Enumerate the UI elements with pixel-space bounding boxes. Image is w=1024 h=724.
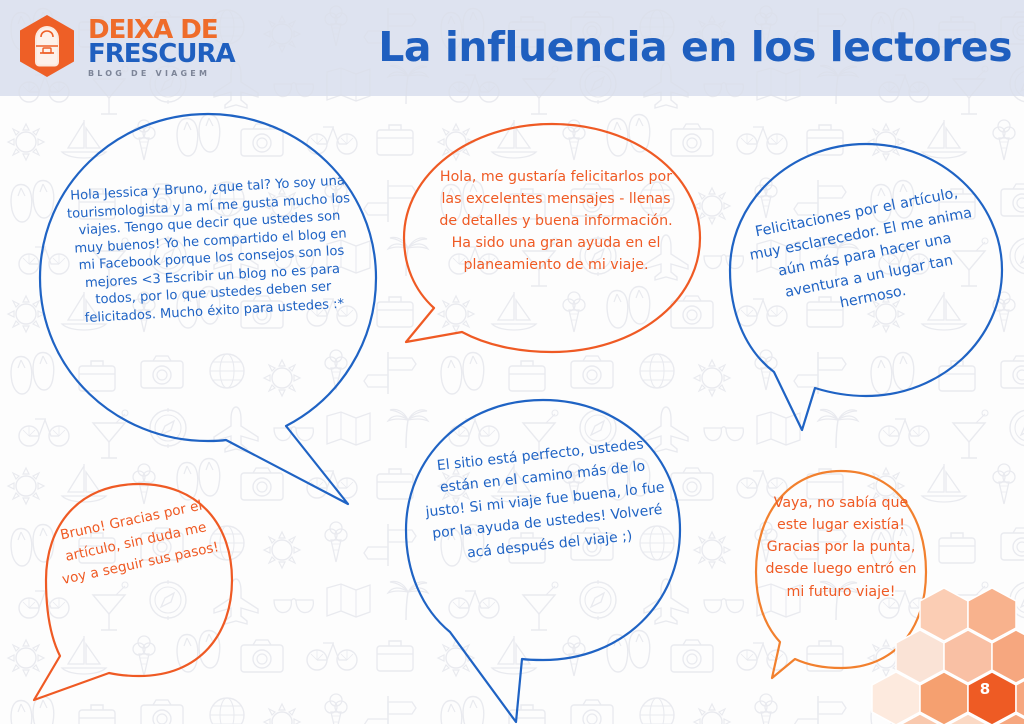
page-title: La influencia en los lectores xyxy=(260,12,1012,82)
backpack-hexagon-icon xyxy=(14,13,80,79)
testimonial-text-1: Hola Jessica y Bruno, ¿que tal? Yo soy u… xyxy=(62,172,359,328)
testimonial-bubble-2: Hola, me gustaría felicitarlos por las e… xyxy=(400,118,710,378)
logo-tagline: BLOG DE VIAGEM xyxy=(88,70,235,78)
testimonial-text-2: Hola, me gustaría felicitarlos por las e… xyxy=(436,166,676,276)
slide-page: DEIXA DE FRESCURA BLOG DE VIAGEM La infl… xyxy=(0,0,1024,724)
logo-line-2: FRESCURA xyxy=(88,41,235,67)
testimonial-bubble-3: Felicitaciones por el artículo, muy escl… xyxy=(714,140,1014,430)
testimonial-bubble-5: El sitio está perfecto, ustedes están en… xyxy=(398,396,688,722)
site-logo[interactable]: DEIXA DE FRESCURA BLOG DE VIAGEM xyxy=(14,10,246,82)
header-band: DEIXA DE FRESCURA BLOG DE VIAGEM La infl… xyxy=(0,0,1024,96)
testimonial-bubble-4: Bruno! Gracias por el artículo, sin duda… xyxy=(24,478,254,714)
logo-wordmark: DEIXA DE FRESCURA BLOG DE VIAGEM xyxy=(88,15,235,78)
testimonial-bubble-1: Hola Jessica y Bruno, ¿que tal? Yo soy u… xyxy=(28,106,388,506)
honeycomb-decoration xyxy=(844,584,1024,724)
